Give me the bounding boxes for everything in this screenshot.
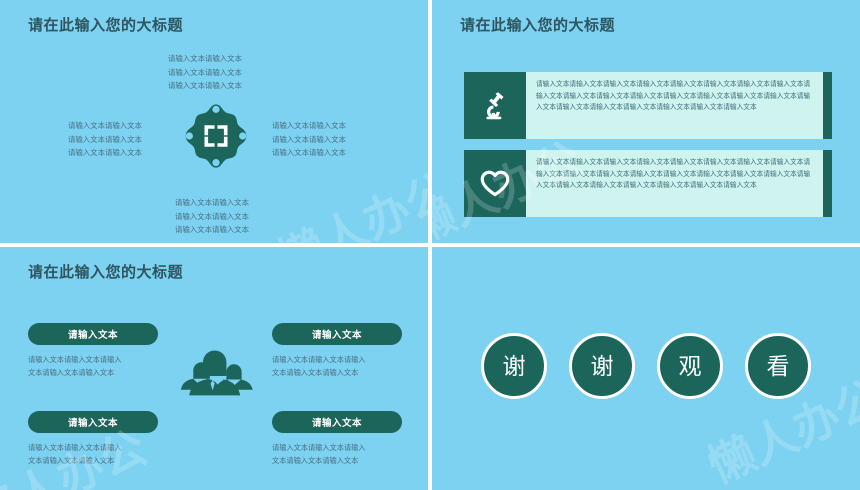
microscope-icon — [464, 72, 526, 139]
text-line: 请输入文本请输入文本 — [272, 146, 346, 160]
text-line: 请输入文本请输入文本 — [175, 196, 249, 210]
list-item[interactable]: 请输入文本请输入文本请输入文本请输入文本请输入文本请输入文本请输入文本请输入文本… — [464, 150, 832, 217]
thank-you-circle[interactable]: 观 — [657, 333, 723, 399]
row-body-text: 请输入文本请输入文本请输入文本请输入文本请输入文本请输入文本请输入文本请输入文本… — [526, 72, 823, 139]
text-block-bottom: 请输入文本请输入文本 请输入文本请输入文本 请输入文本请输入文本 — [175, 196, 249, 237]
text-block-right: 请输入文本请输入文本 请输入文本请输入文本 请输入文本请输入文本 — [272, 119, 346, 160]
text-line: 文本请输入文本请输入文本 — [28, 366, 158, 379]
text-block-left: 请输入文本请输入文本 请输入文本请输入文本 请输入文本请输入文本 — [68, 119, 142, 160]
row-accent-bar — [823, 150, 832, 217]
text-line: 请输入文本请输入文本 — [175, 210, 249, 224]
icon-row-list: 请输入文本请输入文本请输入文本请输入文本请输入文本请输入文本请输入文本请输入文本… — [464, 72, 832, 217]
text-line: 请输入文本请输入文本 — [272, 133, 346, 147]
text-line: 请输入文本请输入文本请输入 — [272, 441, 402, 454]
radial-layout: 请输入文本请输入文本 请输入文本请输入文本 请输入文本请输入文本 请输入文本请输… — [0, 0, 428, 243]
text-line: 请输入文本请输入文本 — [168, 52, 242, 66]
pill-group-bottom-left: 请输入文本 请输入文本请输入文本请输入 文本请输入文本请输入文本 — [28, 411, 158, 467]
slide-radial: 请在此输入您的大标题 请输入文本请输入文本 请输入文本请输入文本 请输入文本请输… — [0, 0, 428, 243]
list-item[interactable]: 请输入文本请输入文本请输入文本请输入文本请输入文本请输入文本请输入文本请输入文本… — [464, 72, 832, 139]
text-line: 文本请输入文本请输入文本 — [272, 454, 402, 467]
slide-four-pills: 请在此输入您的大标题 请输入文本 请输入文本请输入文本请输入 文本请输入文本请输… — [0, 247, 428, 490]
text-line: 请输入文本请输入文本 — [68, 119, 142, 133]
thank-you-circle[interactable]: 谢 — [481, 333, 547, 399]
text-line: 请输入文本请输入文本 — [168, 79, 242, 93]
pill-button[interactable]: 请输入文本 — [28, 323, 158, 345]
thank-you-circle-group: 谢 谢 观 看 — [432, 333, 860, 399]
text-line: 文本请输入文本请输入文本 — [272, 366, 402, 379]
recycle-rosette-icon — [180, 100, 252, 172]
row-accent-bar — [823, 72, 832, 139]
pill-description: 请输入文本请输入文本请输入 文本请输入文本请输入文本 — [272, 441, 402, 467]
pill-group-bottom-right: 请输入文本 请输入文本请输入文本请输入 文本请输入文本请输入文本 — [272, 411, 402, 467]
text-line: 请输入文本请输入文本请输入 — [272, 353, 402, 366]
slide-icon-rows: 请在此输入您的大标题 请输入文本请输入文本请输入文本请输入文本请输入文本请输入文… — [432, 0, 860, 243]
pill-button[interactable]: 请输入文本 — [272, 323, 402, 345]
page-title: 请在此输入您的大标题 — [28, 261, 183, 282]
slide-thank-you: 谢 谢 观 看 懒人办公 — [432, 247, 860, 490]
page-title: 请在此输入您的大标题 — [460, 14, 615, 35]
row-body-text: 请输入文本请输入文本请输入文本请输入文本请输入文本请输入文本请输入文本请输入文本… — [526, 150, 823, 217]
pill-group-top-right: 请输入文本 请输入文本请输入文本请输入 文本请输入文本请输入文本 — [272, 323, 402, 379]
heart-icon — [464, 150, 526, 217]
text-line: 请输入文本请输入文本 — [68, 133, 142, 147]
text-line: 文本请输入文本请输入文本 — [28, 454, 158, 467]
pill-description: 请输入文本请输入文本请输入 文本请输入文本请输入文本 — [272, 353, 402, 379]
text-line: 请输入文本请输入文本请输入 — [28, 353, 158, 366]
text-line: 请输入文本请输入文本 — [272, 119, 346, 133]
text-line: 请输入文本请输入文本 — [68, 146, 142, 160]
team-people-icon — [172, 347, 256, 405]
pill-button[interactable]: 请输入文本 — [272, 411, 402, 433]
slide-grid: 请在此输入您的大标题 请输入文本请输入文本 请输入文本请输入文本 请输入文本请输… — [0, 0, 860, 490]
pill-group-top-left: 请输入文本 请输入文本请输入文本请输入 文本请输入文本请输入文本 — [28, 323, 158, 379]
text-line: 请输入文本请输入文本 — [168, 66, 242, 80]
pill-description: 请输入文本请输入文本请输入 文本请输入文本请输入文本 — [28, 353, 158, 379]
pill-button[interactable]: 请输入文本 — [28, 411, 158, 433]
text-line: 请输入文本请输入文本请输入 — [28, 441, 158, 454]
thank-you-circle[interactable]: 谢 — [569, 333, 635, 399]
text-block-top: 请输入文本请输入文本 请输入文本请输入文本 请输入文本请输入文本 — [168, 52, 242, 93]
text-line: 请输入文本请输入文本 — [175, 223, 249, 237]
pill-description: 请输入文本请输入文本请输入 文本请输入文本请输入文本 — [28, 441, 158, 467]
thank-you-circle[interactable]: 看 — [745, 333, 811, 399]
